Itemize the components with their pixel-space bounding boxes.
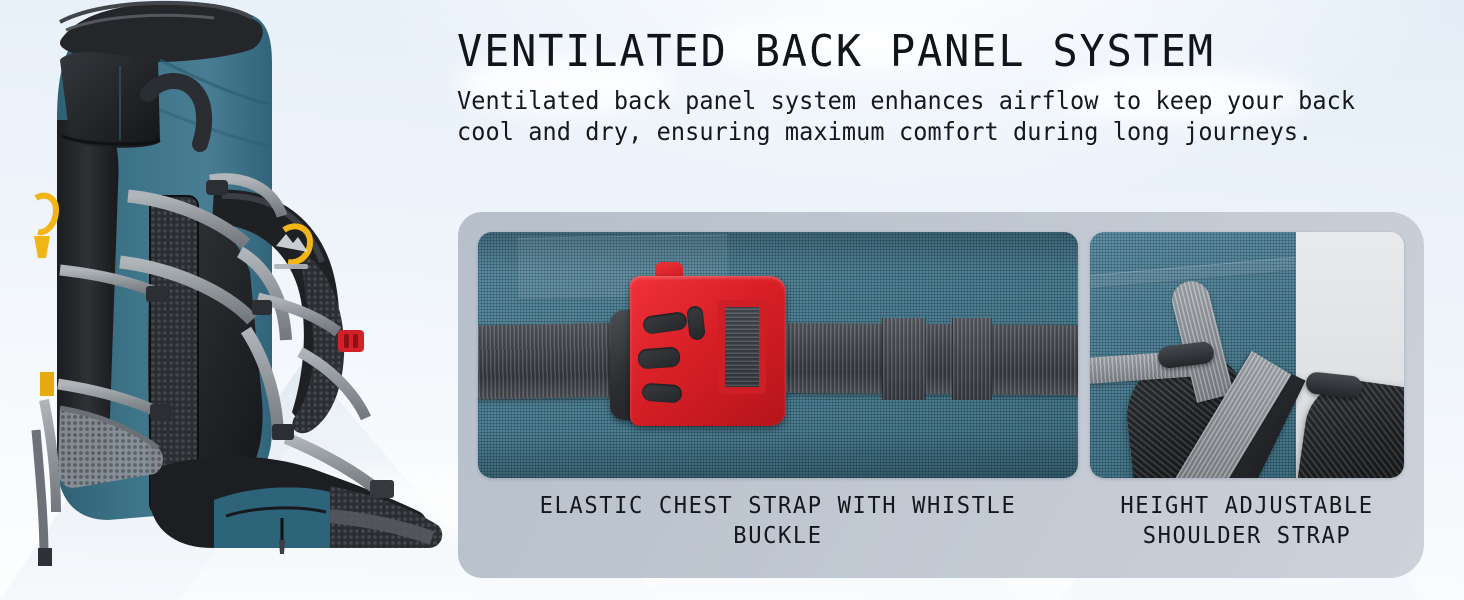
page-subtitle: Ventilated back panel system enhances ai…: [457, 85, 1393, 147]
headline-block: VENTILATED BACK PANEL SYSTEM Ventilated …: [457, 27, 1417, 147]
buckle-slot: [637, 347, 680, 370]
page-title: VENTILATED BACK PANEL SYSTEM: [457, 27, 1369, 77]
feature-panel: ELASTIC CHEST STRAP WITH WHISTLE BUCKLE …: [458, 212, 1424, 578]
webbing-keeper-loop: [952, 318, 992, 400]
buckle-slot: [641, 383, 682, 404]
caption-shoulder-strap: HEIGHT ADJUSTABLE SHOULDER STRAP: [1099, 490, 1394, 550]
caption-chest-strap: ELASTIC CHEST STRAP WITH WHISTLE BUCKLE: [496, 490, 1060, 550]
product-feature-banner: VENTILATED BACK PANEL SYSTEM Ventilated …: [0, 0, 1464, 600]
feature-photo-shoulder-strap: [1090, 232, 1404, 478]
photo-shadow-bottom: [478, 430, 1078, 478]
buckle-webbing-window: [718, 300, 766, 394]
product-image-backpack: [0, 0, 450, 600]
feature-photo-chest-strap: [478, 232, 1078, 478]
chest-webbing-right: [778, 323, 1078, 395]
webbing-keeper-loop: [882, 318, 926, 400]
